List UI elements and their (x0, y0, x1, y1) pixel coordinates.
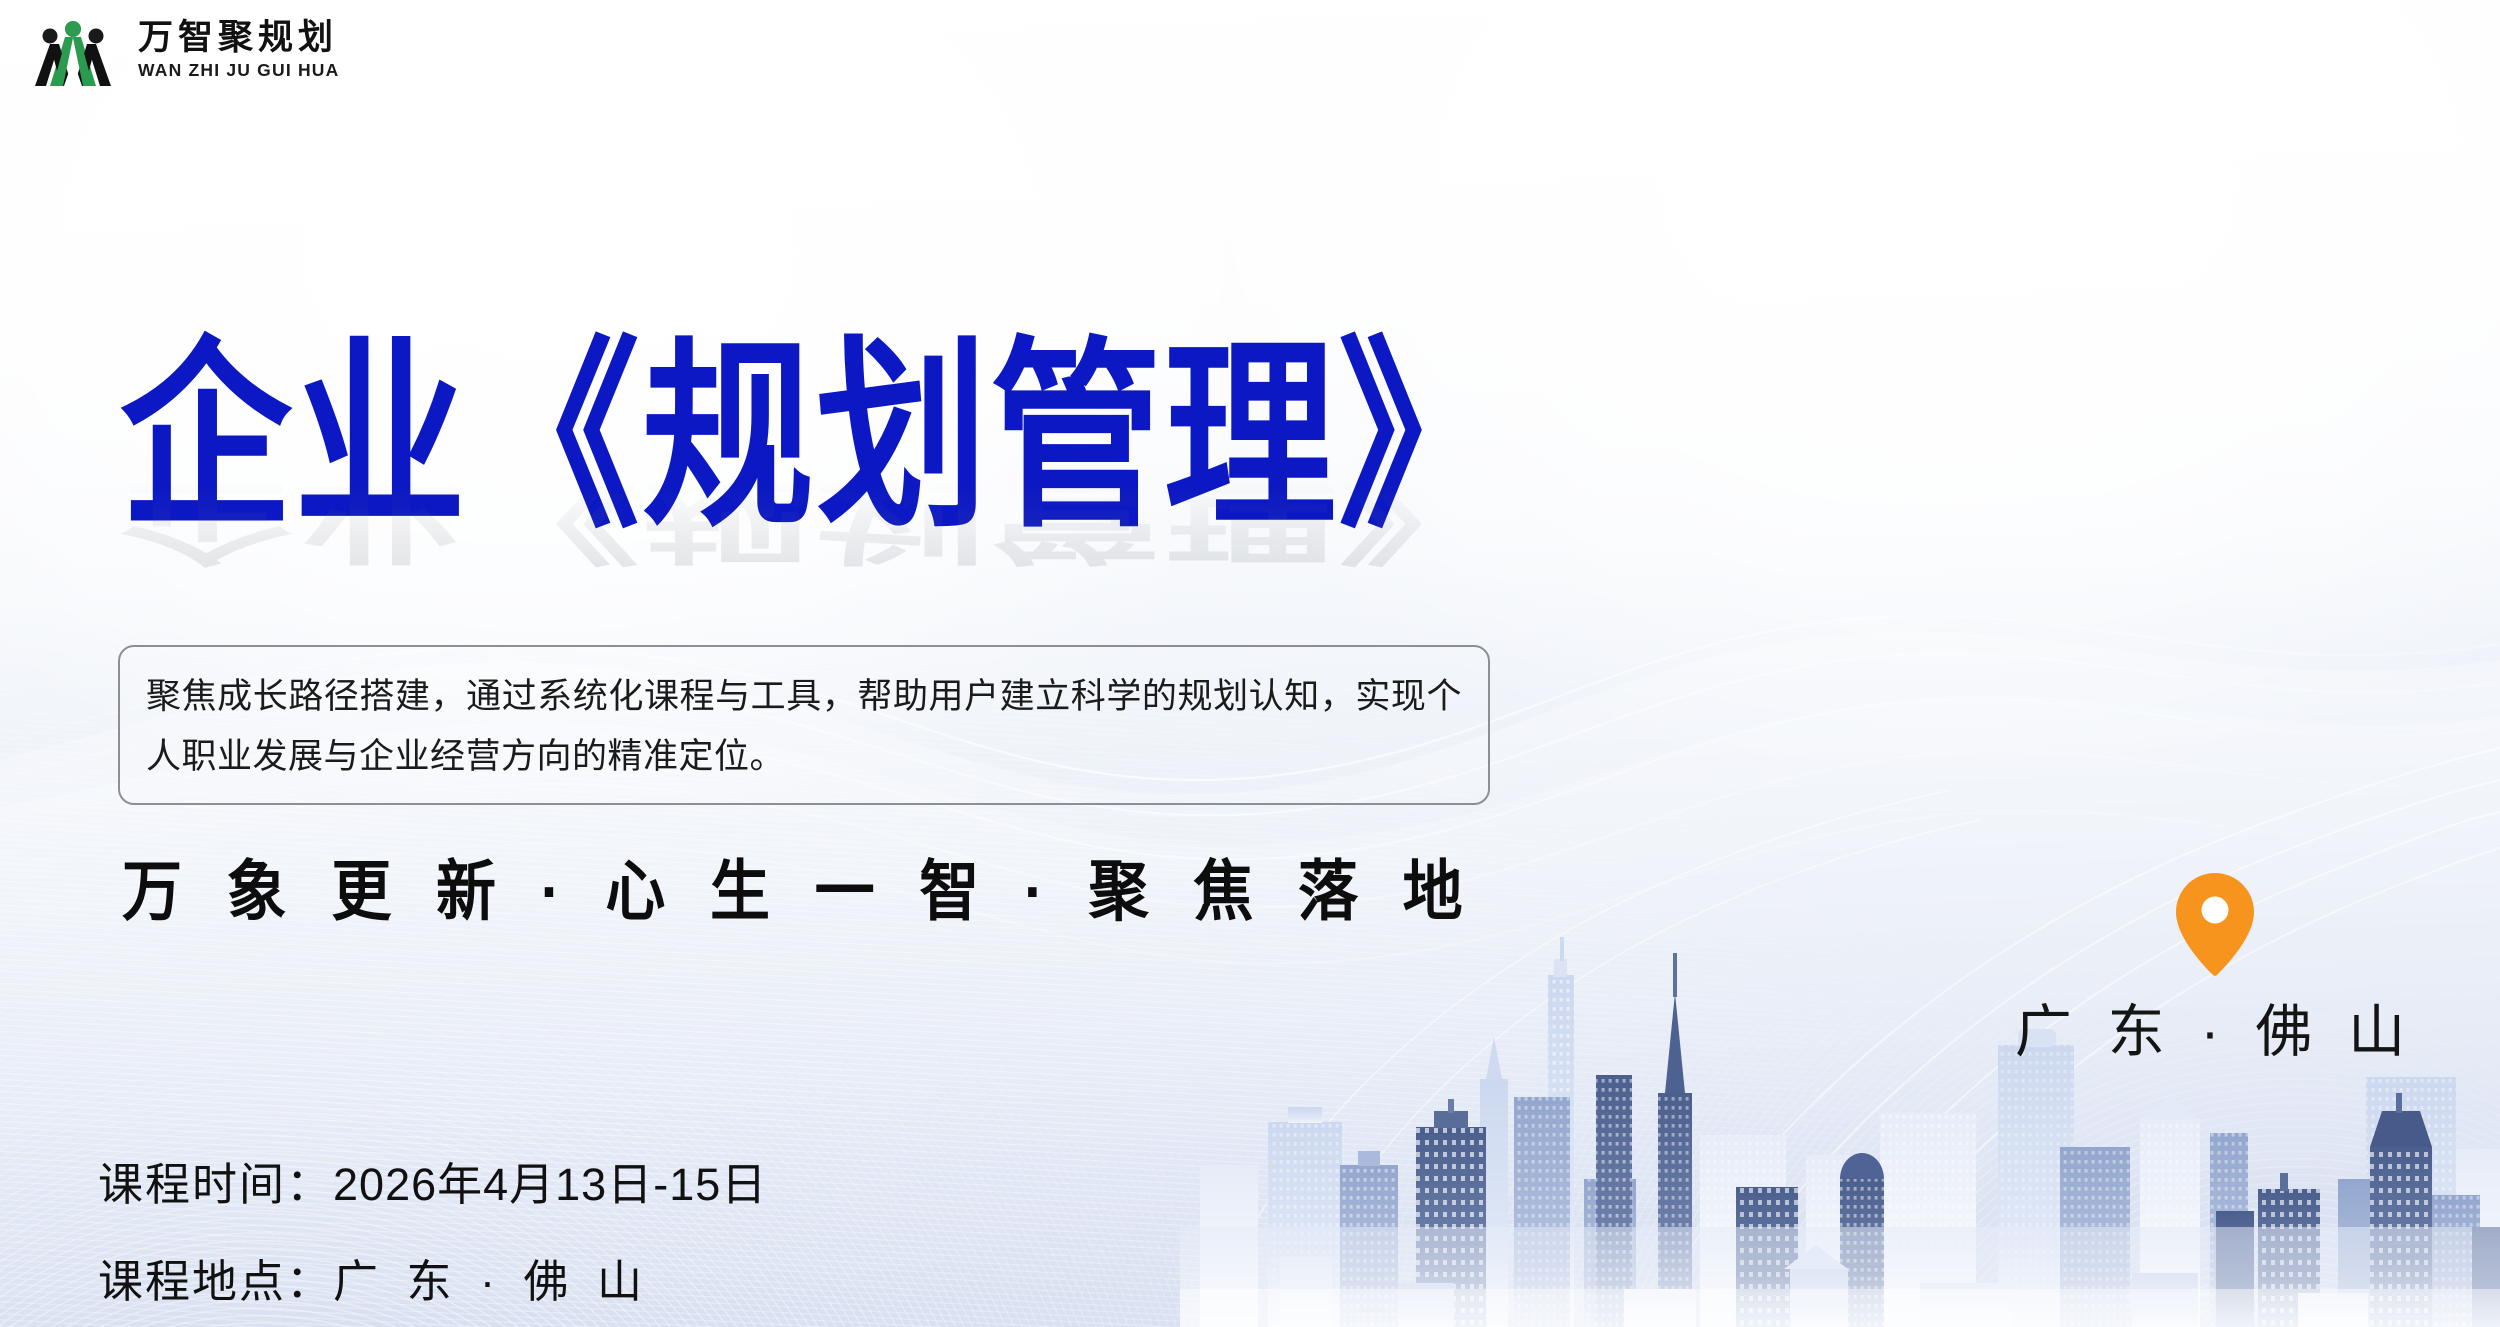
course-place-row: 课程地点：广 东 · 佛 山 (98, 1245, 767, 1310)
brand-name-en: WAN ZHI JU GUI HUA (138, 62, 339, 80)
description-text: 聚焦成长路径搭建，通过系统化课程与工具，帮助用户建立科学的规划认知，实现个人职业… (146, 667, 1462, 787)
three-people-logo-icon (30, 14, 116, 86)
hero-title-block: 企业《规划管理》 企业《规划管理》 (120, 330, 1620, 512)
location-badge: 广 东 · 佛 山 (2005, 870, 2425, 1068)
slogan-text: 万 象 更 新 · 心 生 一 智 · 聚 焦 落 地 (122, 838, 1477, 934)
location-name: 广 东 · 佛 山 (2005, 986, 2425, 1068)
course-place-value: 广 东 · 佛 山 (333, 1256, 650, 1307)
course-info: 课程时间：2026年4月13日-15日 课程地点：广 东 · 佛 山 (98, 1148, 767, 1310)
poster-canvas: 万智聚规划 WAN ZHI JU GUI HUA 企业《规划管理》 企业《规划管… (0, 0, 2500, 1327)
page-title: 企业《规划管理》 (120, 330, 1620, 545)
course-time-value: 2026年4月13日-15日 (333, 1159, 767, 1210)
map-pin-icon (2172, 870, 2258, 978)
course-time-label: 课程时间： (98, 1159, 333, 1210)
description-box: 聚焦成长路径搭建，通过系统化课程与工具，帮助用户建立科学的规划认知，实现个人职业… (118, 645, 1490, 805)
brand-logo[interactable]: 万智聚规划 WAN ZHI JU GUI HUA (30, 14, 339, 86)
brand-name-cn: 万智聚规划 (138, 20, 339, 55)
course-place-label: 课程地点： (98, 1256, 333, 1307)
brand-text: 万智聚规划 WAN ZHI JU GUI HUA (138, 20, 339, 80)
course-time-row: 课程时间：2026年4月13日-15日 (98, 1148, 767, 1213)
